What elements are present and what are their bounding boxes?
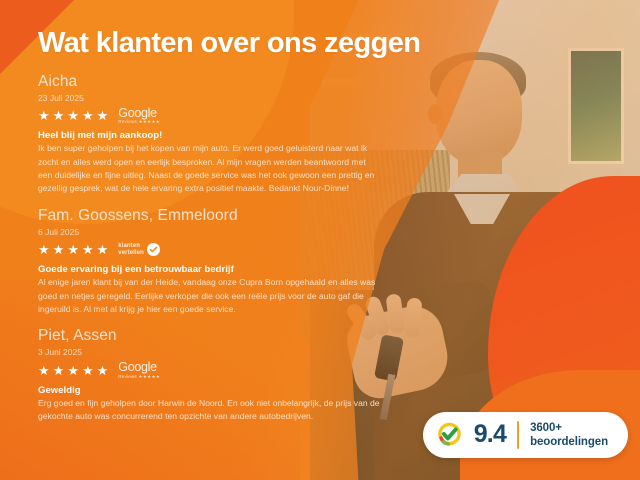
star-icon: ★ [38,243,50,256]
reviewer-name: Aicha [38,73,640,91]
klantenvertellen-badge: klanten vertellen [118,243,160,256]
review-title: Geweldig [38,385,640,396]
review-date: 23 Juli 2025 [38,92,640,105]
star-icon: ★ [38,364,50,377]
score-divider [517,421,519,449]
review-title: Goede ervaring bij een betrouwbaar bedri… [38,264,640,275]
google-reviews-subtext: Reviews ★★★★★ [118,120,160,125]
rating-row: ★ ★ ★ ★ ★ klanten vertellen [38,240,640,259]
review-date: 3 Juni 2025 [38,346,640,359]
google-reviews-subtext: Reviews ★★★★★ [118,375,160,380]
reviewer-name: Piet, Assen [38,327,640,345]
review-date: 6 Juli 2025 [38,226,640,239]
google-reviews-badge: Google Reviews ★★★★★ [118,361,160,379]
star-icon: ★ [38,109,50,122]
score-value: 9.4 [474,422,506,447]
google-wordmark: Google [118,361,160,374]
star-icon: ★ [82,109,94,122]
score-text: 3600+ beoordelingen [530,421,608,449]
review-item: Fam. Goossens, Emmeloord 6 Juli 2025 ★ ★… [38,207,640,317]
star-icon: ★ [67,243,79,256]
star-icon: ★ [67,364,79,377]
star-icon: ★ [82,243,94,256]
review-body: Erg goed en fijn geholpen door Harwin de… [38,397,382,424]
review-item: Aicha 23 Juli 2025 ★ ★ ★ ★ ★ Google Revi… [38,73,640,196]
google-reviews-badge: Google Reviews ★★★★★ [118,107,160,125]
google-wordmark: Google [118,107,160,120]
review-title: Heel blij met mijn aankoop! [38,130,640,141]
star-rating: ★ ★ ★ ★ ★ [38,109,108,122]
star-icon: ★ [97,109,109,122]
star-icon: ★ [67,109,79,122]
star-icon: ★ [97,243,109,256]
star-icon: ★ [97,364,109,377]
page-title: Wat klanten over ons zeggen [38,28,640,60]
star-icon: ★ [82,364,94,377]
klantenvertellen-check-logo [436,421,463,448]
check-circle-icon [147,243,160,256]
review-item: Piet, Assen 3 Juni 2025 ★ ★ ★ ★ ★ Google… [38,327,640,423]
star-rating: ★ ★ ★ ★ ★ [38,243,108,256]
klantenvertellen-line2: vertellen [118,250,144,256]
klantenvertellen-wordmark: klanten vertellen [118,243,144,256]
review-body: Ik ben super geholpen bij het kopen van … [38,142,382,195]
rating-row: ★ ★ ★ ★ ★ Google Reviews ★★★★★ [38,361,640,380]
content-area: Wat klanten over ons zeggen Aicha 23 Jul… [0,0,640,480]
star-icon: ★ [53,109,65,122]
review-count-label: beoordelingen [530,435,608,449]
star-icon: ★ [53,243,65,256]
rating-row: ★ ★ ★ ★ ★ Google Reviews ★★★★★ [38,106,640,125]
star-rating: ★ ★ ★ ★ ★ [38,364,108,377]
reviewer-name: Fam. Goossens, Emmeloord [38,207,640,225]
score-badge: 9.4 3600+ beoordelingen [423,412,628,458]
review-count: 3600+ [530,421,608,435]
star-icon: ★ [53,364,65,377]
review-body: Al enige jaren klant bij van der Heide, … [38,276,382,316]
